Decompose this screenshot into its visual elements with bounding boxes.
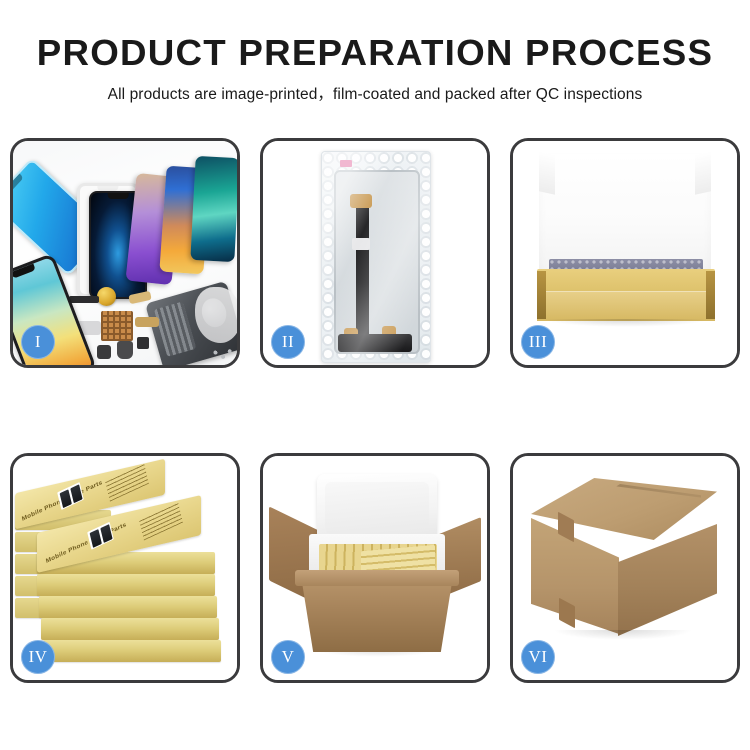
lid-flap-left xyxy=(539,151,555,194)
step-badge-6: VI xyxy=(521,640,555,674)
step-badge-3: III xyxy=(521,325,555,359)
phone-teal-gradient xyxy=(190,156,237,262)
step-badge-5: V xyxy=(271,640,305,674)
process-step-5[interactable]: V Shipping carton loaded with foam box o… xyxy=(260,453,490,683)
process-step-6[interactable]: VI Sealed and taped brown shipping carto… xyxy=(510,453,740,683)
kraft-tray-left-edge xyxy=(537,271,546,319)
box-artwork-b xyxy=(87,522,114,550)
process-step-4[interactable]: Mobile Phone Spare Parts Mobile Phone Sp… xyxy=(10,453,240,683)
bubble-wrap-bag xyxy=(321,151,431,363)
page-header: PRODUCT PREPARATION PROCESS All products… xyxy=(0,0,750,104)
step-badge-1: I xyxy=(21,325,55,359)
small-chip-part xyxy=(137,337,149,349)
connector-part xyxy=(117,341,133,359)
kraft-tray-front xyxy=(537,291,715,321)
stack-row-2 xyxy=(37,574,215,596)
page-title: PRODUCT PREPARATION PROCESS xyxy=(0,34,750,72)
lcd-bottom-assembly xyxy=(338,334,412,352)
taptic-engine-part xyxy=(97,287,116,306)
step-badge-2: II xyxy=(271,325,305,359)
drop-shadow xyxy=(553,630,693,640)
flex-cable-part-b xyxy=(135,317,159,327)
stack-row-4 xyxy=(41,618,219,640)
lcd-flex-cable xyxy=(356,200,369,338)
screws-part xyxy=(211,347,233,361)
page-subtitle: All products are image-printed，film-coat… xyxy=(0,82,750,104)
drop-shadow xyxy=(543,319,709,327)
process-step-grid: I Assorted mobile phone display assembli… xyxy=(10,138,740,683)
box-artwork-a xyxy=(57,482,84,510)
carton-rim xyxy=(295,570,459,586)
process-step-3[interactable]: III Open kraft box with protective foam … xyxy=(510,138,740,368)
lcd-panel xyxy=(334,170,420,354)
camera-module-part xyxy=(97,345,111,359)
carton-body xyxy=(301,576,453,652)
lcd-driver-chip xyxy=(352,238,370,250)
stack-row-3 xyxy=(39,596,217,618)
speaker-bar-part xyxy=(69,296,99,303)
process-step-1[interactable]: I Assorted mobile phone display assembli… xyxy=(10,138,240,368)
lcd-connector-top xyxy=(350,194,372,208)
process-step-2[interactable]: II LCD screen assembly sealed in bubble … xyxy=(260,138,490,368)
stack-row-5 xyxy=(43,640,221,662)
kraft-tray-right-edge xyxy=(706,271,715,319)
box-spec-lines-b xyxy=(139,502,183,540)
lid-flap-right xyxy=(695,151,711,194)
copper-mesh-part xyxy=(101,311,133,341)
qc-sticker xyxy=(340,160,352,167)
step-badge-4: IV xyxy=(21,640,55,674)
